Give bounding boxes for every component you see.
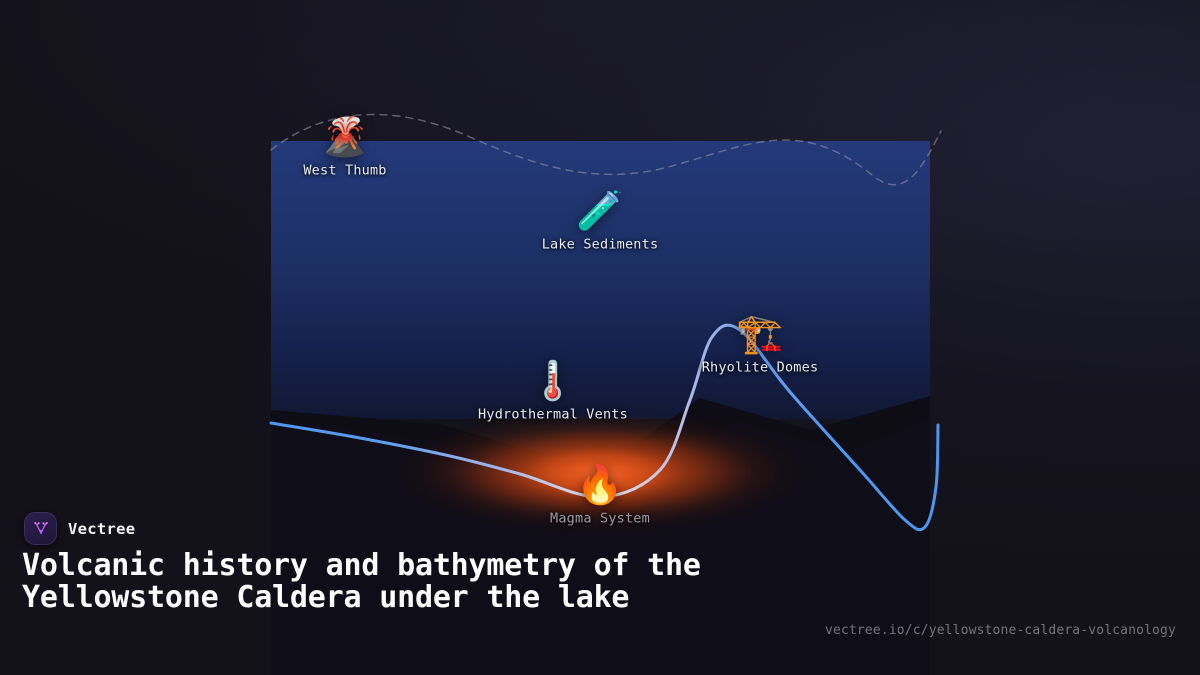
volcano-emoji: 🌋 — [321, 118, 368, 156]
node-label-hydrothermal-vents: Hydrothermal Vents — [478, 407, 628, 423]
vectree-tree-logo-icon — [24, 512, 57, 545]
node-rhyolite-domes[interactable]: 🏗️ Rhyolite Domes — [702, 315, 819, 376]
brand: Vectree — [24, 512, 135, 545]
screenshot-root: 🌋 West Thumb 🧪 Lake Sediments 🌡️ Hydroth… — [0, 0, 1200, 675]
node-label-west-thumb: West Thumb — [303, 163, 386, 179]
node-hydrothermal-vents[interactable]: 🌡️ Hydrothermal Vents — [478, 362, 628, 423]
node-label-lake-sediments: Lake Sediments — [542, 237, 659, 253]
node-label-magma-system: Magma System — [550, 511, 650, 527]
page-title: Volcanic history and bathymetry of the Y… — [22, 550, 792, 615]
node-magma-system[interactable]: 🔥 Magma System — [550, 466, 650, 527]
test-tube-emoji: 🧪 — [576, 192, 623, 230]
crane-emoji: 🏗️ — [736, 315, 783, 353]
node-label-rhyolite-domes: Rhyolite Domes — [702, 360, 819, 376]
thermometer-emoji: 🌡️ — [529, 362, 576, 400]
page-url: vectree.io/c/yellowstone-caldera-volcano… — [825, 623, 1176, 638]
node-lake-sediments[interactable]: 🧪 Lake Sediments — [542, 192, 659, 253]
brand-name: Vectree — [68, 520, 135, 538]
fire-emoji: 🔥 — [576, 466, 623, 504]
node-west-thumb[interactable]: 🌋 West Thumb — [303, 118, 386, 179]
